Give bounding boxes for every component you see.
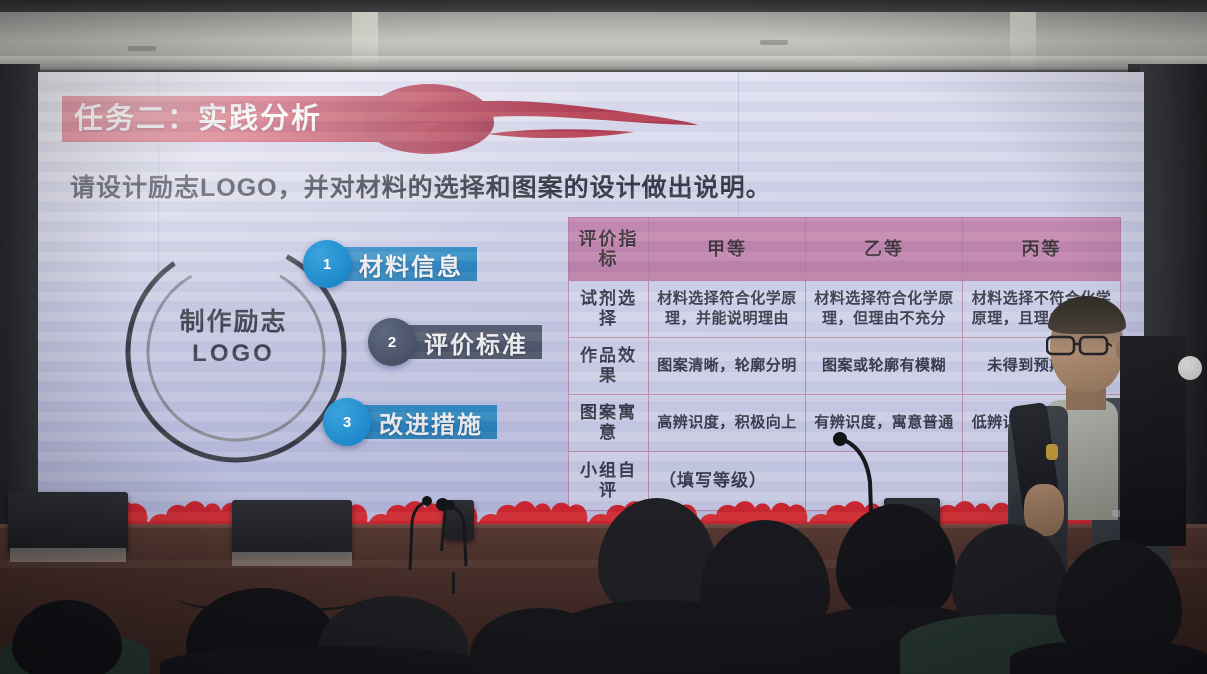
projection-screen: 任务二：实践分析 请设计励志LOGO，并对材料的选择和图案的设计做出说明。 制作… xyxy=(38,72,1144,534)
speaker-cone-icon xyxy=(1178,356,1202,380)
monitor-left xyxy=(8,492,128,552)
rubric-row-3-grade-a: 高辨识度，积极向上 xyxy=(649,395,806,452)
rubric-row-2-indicator: 作品效果 xyxy=(569,338,649,395)
diagram-node-1[interactable]: 1 材料信息 xyxy=(303,240,477,288)
rubric-header-grade-a: 甲等 xyxy=(649,218,806,281)
diagram-node-2-number: 2 xyxy=(368,318,416,366)
diagram-node-2[interactable]: 2 评价标准 xyxy=(368,318,542,366)
circle-diagram: 制作励志 LOGO 1 材料信息 2 评价标准 3 改进措施 xyxy=(58,232,578,472)
wall-speaker xyxy=(1120,336,1186,546)
rubric-header-indicator: 评价指标 xyxy=(569,218,649,281)
rubric-row-2-grade-b: 图案或轮廓有模糊 xyxy=(806,338,963,395)
diagram-node-1-number: 1 xyxy=(303,240,351,288)
rubric-row-1-grade-b: 材料选择符合化学原理，但理由不充分 xyxy=(806,281,963,338)
slide-title-text: 任务二：实践分析 xyxy=(74,99,384,139)
diagram-node-3-number: 3 xyxy=(323,398,371,446)
presenter-hair xyxy=(1048,296,1126,334)
microphone-tip xyxy=(1046,444,1058,460)
diagram-node-2-label: 评价标准 xyxy=(402,325,542,359)
gooseneck-microphone-icon xyxy=(420,498,480,568)
rubric-row-1-grade-a: 材料选择符合化学原理，并能说明理由 xyxy=(649,281,806,338)
monitor-center xyxy=(232,500,352,556)
light-reflection xyxy=(352,12,378,72)
rubric-header-grade-c: 丙等 xyxy=(963,218,1121,281)
monitor-left-base xyxy=(10,548,126,562)
slide-subtitle: 请设计励志LOGO，并对材料的选择和图案的设计做出说明。 xyxy=(70,168,1110,204)
diagram-node-3-label: 改进措施 xyxy=(357,405,497,439)
ceiling-vent-icon xyxy=(128,46,156,51)
ceiling-vent-icon xyxy=(760,40,788,45)
diagram-node-1-label: 材料信息 xyxy=(337,247,477,281)
diagram-center-line1: 制作励志 xyxy=(126,306,341,338)
glasses-icon xyxy=(1046,334,1112,356)
lecture-hall-photo: 任务二：实践分析 请设计励志LOGO，并对材料的选择和图案的设计做出说明。 制作… xyxy=(0,0,1207,674)
monitor-center-base xyxy=(232,552,352,566)
banner-swirl-icon xyxy=(368,94,698,146)
rubric-row-1-indicator: 试剂选择 xyxy=(569,281,649,338)
light-reflection xyxy=(1010,12,1036,72)
rubric-row-3-indicator: 图案寓意 xyxy=(569,395,649,452)
diagram-node-3[interactable]: 3 改进措施 xyxy=(323,398,497,446)
rubric-row-2-grade-a: 图案清晰，轮廓分明 xyxy=(649,338,806,395)
microphone-stem xyxy=(452,572,455,594)
audience-shoulders xyxy=(1010,640,1207,674)
diagram-center-line2: LOGO xyxy=(126,338,341,370)
rubric-header-grade-b: 乙等 xyxy=(806,218,963,281)
rubric-header-row: 评价指标 甲等 乙等 丙等 xyxy=(569,218,1121,281)
diagram-center-label: 制作励志 LOGO xyxy=(126,306,341,370)
